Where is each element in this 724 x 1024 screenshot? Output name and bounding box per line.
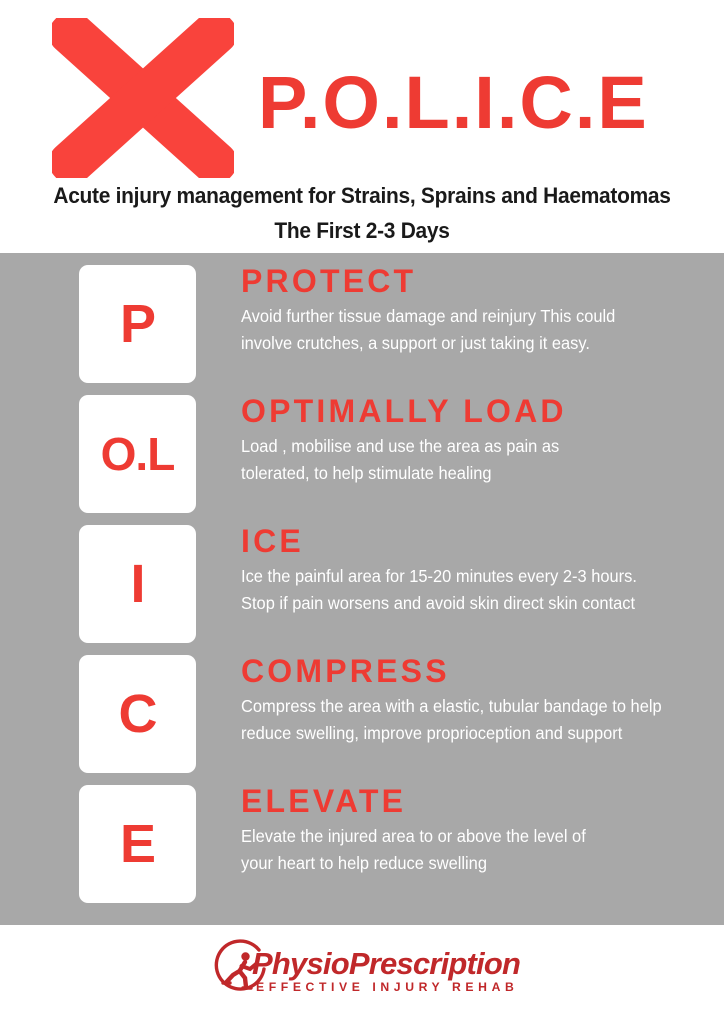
step-description: Elevate the injured area to or above the… [241,823,683,878]
step-badge-card: E [79,785,196,903]
step-heading: ICE [241,525,711,559]
step-heading: OPTIMALLY LOAD [241,395,711,429]
crossed-bandage-x-icon [52,18,234,178]
step-description: Ice the painful area for 15-20 minutes e… [241,563,683,618]
step-badge-letter: E [120,817,155,871]
step-badge-card: I [79,525,196,643]
step-text-block: ELEVATE Elevate the injured area to or a… [241,785,711,878]
page-title: P.O.L.I.C.E [258,66,649,140]
poster-root: P.O.L.I.C.E Acute injury management for … [0,0,724,1024]
step-badge-letter: I [130,557,144,611]
step-badge-card: O.L [79,395,196,513]
step-heading: PROTECT [241,265,711,299]
footer: PhysioPrescription EFFECTIVE INJURY REHA… [0,925,724,1024]
header: P.O.L.I.C.E Acute injury management for … [0,0,724,253]
step-text-block: ICE Ice the painful area for 15-20 minut… [241,525,711,618]
step-badge-card: C [79,655,196,773]
step-description: Compress the area with a elastic, tubula… [241,693,683,748]
step-badge-letter: O.L [101,431,175,477]
step-description: Avoid further tissue damage and reinjury… [241,303,683,358]
step-text-block: OPTIMALLY LOAD Load , mobilise and use t… [241,395,711,488]
subtitle-primary: Acute injury management for Strains, Spr… [25,183,698,209]
brand-tagline: EFFECTIVE INJURY REHAB [256,981,518,993]
step-badge-card: P [79,265,196,383]
step-text-block: COMPRESS Compress the area with a elasti… [241,655,711,748]
brand-name: PhysioPrescription [252,948,520,979]
step-heading: COMPRESS [241,655,711,689]
subtitle-secondary: The First 2-3 Days [25,218,698,244]
step-badge-letter: P [120,297,155,351]
step-description: Load , mobilise and use the area as pain… [241,433,683,488]
step-badge-letter: C [119,687,157,741]
steps-band: P PROTECT Avoid further tissue damage an… [0,253,724,925]
step-text-block: PROTECT Avoid further tissue damage and … [241,265,711,358]
brand-logo: PhysioPrescription EFFECTIVE INJURY REHA… [212,935,522,1007]
step-heading: ELEVATE [241,785,711,819]
